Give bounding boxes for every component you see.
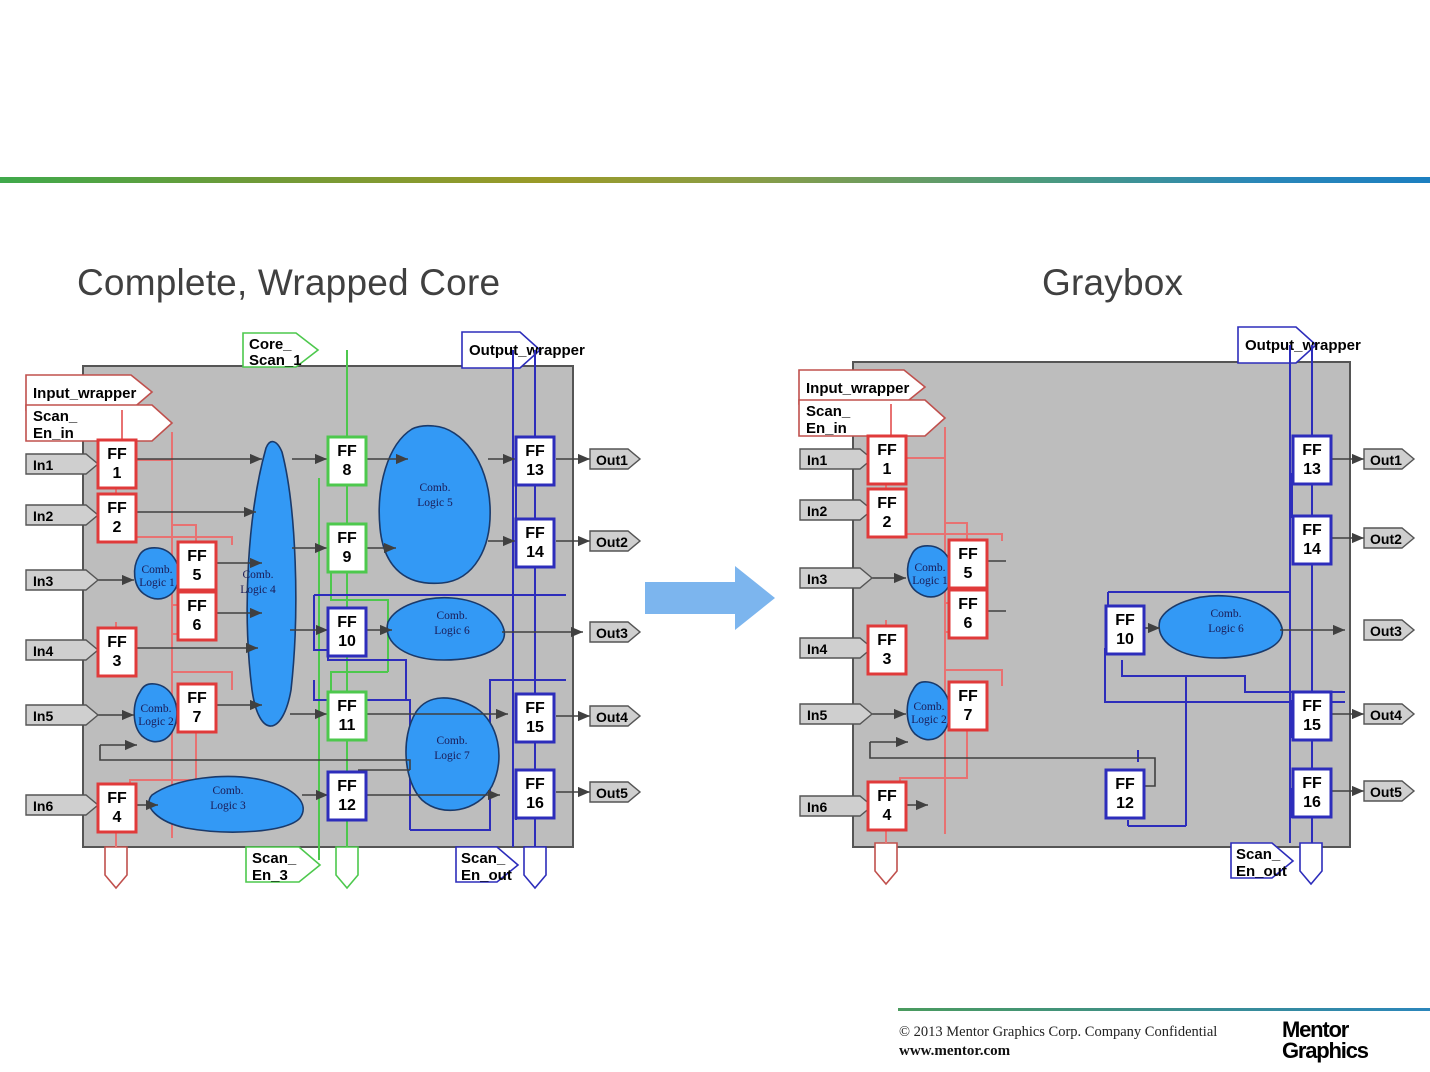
- svg-text:7: 7: [964, 707, 973, 724]
- port-in5-right: In5: [800, 704, 872, 724]
- svg-text:8: 8: [343, 462, 352, 479]
- ff-13-left: FF 13: [516, 437, 554, 485]
- flag-label-scan-en-out-a: Scan_: [461, 850, 506, 867]
- ff-6-left: FF 6: [178, 592, 216, 640]
- ports-out-right: Out1 Out2 Out3 Out4 Out5: [1364, 449, 1414, 801]
- blob-label-cl2a: Comb.: [141, 703, 172, 715]
- svg-text:15: 15: [526, 719, 544, 736]
- ff-3-left: FF 3: [98, 628, 136, 676]
- flag-label-input-wrapper: Input_wrapper: [33, 385, 137, 402]
- ff-2-right: FF 2: [868, 489, 906, 537]
- svg-text:FF: FF: [958, 688, 978, 705]
- ff-5-left: FF 5: [178, 542, 216, 590]
- flag-label-scan-en-in-r1: Scan_: [806, 403, 851, 420]
- svg-text:FF: FF: [187, 598, 207, 615]
- flag-label-scan-en-in-1: Scan_: [33, 408, 78, 425]
- svg-text:1: 1: [883, 461, 892, 478]
- flag-scan-en-in-left: Scan_ En_in: [26, 405, 172, 442]
- blob-label-r-cl2a: Comb.: [914, 701, 945, 713]
- port-label-in4-r: In4: [807, 641, 827, 657]
- ff-7-left: FF 7: [178, 684, 216, 732]
- port-in1-right: In1: [800, 449, 872, 469]
- ff-5-right: FF 5: [949, 540, 987, 588]
- flag-core-scan-1: Core_ Scan_1: [243, 333, 318, 369]
- blob-comb-logic-3: Comb. Logic 3: [149, 776, 303, 832]
- pennant-blue-right: [1300, 843, 1322, 884]
- ff-14-right: FF 14: [1293, 516, 1331, 564]
- blob-label-r-cl1b: Logic 1: [912, 575, 948, 587]
- svg-text:12: 12: [1116, 795, 1134, 812]
- svg-text:FF: FF: [525, 525, 545, 542]
- ff-7-right: FF 7: [949, 682, 987, 730]
- svg-text:2: 2: [883, 514, 892, 531]
- footer-divider-rule: [898, 1008, 1430, 1011]
- blob-label-cl3a: Comb.: [213, 785, 244, 797]
- port-in3-right: In3: [800, 568, 872, 588]
- port-out2-left: Out2: [590, 531, 640, 551]
- blob-label-cl1a: Comb.: [142, 564, 173, 576]
- flag-scan-en-3: Scan_ En_3: [246, 847, 320, 884]
- ff-9-left: FF 9: [328, 524, 366, 572]
- svg-text:4: 4: [113, 809, 122, 826]
- ff-6-right: FF 6: [949, 590, 987, 638]
- port-label-out2-r: Out2: [1370, 531, 1402, 547]
- svg-text:FF: FF: [1302, 442, 1322, 459]
- blob-label-cl3b: Logic 3: [210, 800, 246, 812]
- port-label-out2: Out2: [596, 534, 628, 550]
- port-label-out3-r: Out3: [1370, 623, 1402, 639]
- port-label-in4: In4: [33, 643, 53, 659]
- pennant-red-right: [875, 843, 897, 884]
- port-out2-right: Out2: [1364, 528, 1414, 548]
- ff-16-right: FF 16: [1293, 769, 1331, 817]
- svg-text:4: 4: [883, 807, 892, 824]
- port-in6-right: In6: [800, 796, 872, 816]
- flag-scan-en-in-right: Scan_ En_in: [799, 400, 945, 437]
- blob-label-r-cl6a: Comb.: [1211, 608, 1242, 620]
- svg-text:10: 10: [338, 633, 356, 650]
- port-in3-left: In3: [26, 570, 98, 590]
- copyright-text: © 2013 Mentor Graphics Corp. Company Con…: [899, 1024, 1217, 1041]
- svg-text:2: 2: [113, 519, 122, 536]
- blob-comb-logic-1-right: Comb. Logic 1: [908, 546, 952, 597]
- port-in5-left: In5: [26, 705, 98, 725]
- blob-label-cl4b: Logic 4: [240, 584, 276, 596]
- svg-text:FF: FF: [1115, 612, 1135, 629]
- svg-text:16: 16: [526, 795, 544, 812]
- port-in4-left: In4: [26, 640, 98, 660]
- ff-12-right: FF 12: [1106, 770, 1144, 818]
- svg-text:14: 14: [1303, 541, 1321, 558]
- svg-text:10: 10: [1116, 631, 1134, 648]
- svg-text:14: 14: [526, 544, 544, 561]
- diagram-canvas: Input_wrapper Scan_ En_in Core_ Scan_1 O…: [0, 0, 1430, 1072]
- blob-label-r-cl1a: Comb.: [915, 562, 946, 574]
- pennant-red-left: [105, 847, 127, 888]
- svg-text:6: 6: [193, 617, 202, 634]
- logo-line-2: Graphics: [1282, 1040, 1412, 1061]
- svg-text:FF: FF: [337, 443, 357, 460]
- svg-text:5: 5: [964, 565, 973, 582]
- svg-text:FF: FF: [525, 443, 545, 460]
- port-label-out1: Out1: [596, 452, 628, 468]
- ff-11-left: FF 11: [328, 692, 366, 740]
- ff-14-left: FF 14: [516, 519, 554, 567]
- flag-output-wrapper-right: Output_wrapper: [1238, 327, 1361, 363]
- port-label-in3-r: In3: [807, 571, 827, 587]
- svg-text:5: 5: [193, 567, 202, 584]
- port-label-in6: In6: [33, 798, 53, 814]
- port-label-in2: In2: [33, 508, 53, 524]
- port-out5-left: Out5: [590, 782, 640, 802]
- blob-comb-logic-7: Comb. Logic 7: [406, 698, 499, 810]
- svg-text:FF: FF: [337, 530, 357, 547]
- svg-text:FF: FF: [1302, 775, 1322, 792]
- ff-15-left: FF 15: [516, 694, 554, 742]
- blob-comb-logic-1: Comb. Logic 1: [135, 548, 179, 599]
- flag-label-scan-en-out-r1: Scan_: [1236, 846, 1281, 863]
- ff-4-left: FF 4: [98, 784, 136, 832]
- blob-comb-logic-2: Comb. Logic 2: [134, 684, 177, 742]
- flag-label-output-wrapper: Output_wrapper: [469, 342, 585, 359]
- blob-label-r-cl6b: Logic 6: [1208, 623, 1244, 635]
- svg-text:FF: FF: [958, 546, 978, 563]
- svg-text:FF: FF: [337, 614, 357, 631]
- port-label-in5: In5: [33, 708, 53, 724]
- svg-text:FF: FF: [877, 632, 897, 649]
- svg-text:3: 3: [113, 653, 122, 670]
- port-label-out5: Out5: [596, 785, 628, 801]
- port-label-out3: Out3: [596, 625, 628, 641]
- svg-text:FF: FF: [107, 500, 127, 517]
- svg-text:FF: FF: [525, 776, 545, 793]
- port-label-in6-r: In6: [807, 799, 827, 815]
- svg-text:FF: FF: [1302, 698, 1322, 715]
- svg-text:FF: FF: [877, 788, 897, 805]
- port-in6-left: In6: [26, 795, 98, 815]
- ff-10-left: FF 10: [328, 608, 366, 656]
- ff-16-left: FF 16: [516, 770, 554, 818]
- port-label-in2-r: In2: [807, 503, 827, 519]
- flag-scan-en-out-right: Scan_ En_out: [1231, 843, 1293, 880]
- ff-12-left: FF 12: [328, 772, 366, 820]
- port-out1-right: Out1: [1364, 449, 1414, 469]
- port-out4-left: Out4: [590, 706, 640, 726]
- port-label-in3: In3: [33, 573, 53, 589]
- blob-label-cl7a: Comb.: [437, 735, 468, 747]
- svg-text:1: 1: [113, 465, 122, 482]
- svg-text:FF: FF: [877, 442, 897, 459]
- ff-13-right: FF 13: [1293, 436, 1331, 484]
- blob-label-cl6b: Logic 6: [434, 625, 470, 637]
- port-out3-right: Out3: [1364, 620, 1414, 640]
- transform-arrow: [645, 566, 775, 630]
- port-label-in1: In1: [33, 457, 53, 473]
- flag-input-wrapper-right: Input_wrapper: [799, 370, 925, 404]
- flag-label-scan-en-out-r2: En_out: [1236, 863, 1287, 880]
- svg-text:9: 9: [343, 549, 352, 566]
- ff-1-left: FF 1: [98, 440, 136, 488]
- flag-label-output-wrapper-r: Output_wrapper: [1245, 337, 1361, 354]
- flag-label-scan-en-in-2: En_in: [33, 425, 74, 442]
- svg-text:FF: FF: [1115, 776, 1135, 793]
- port-out4-right: Out4: [1364, 704, 1414, 724]
- ff-2-left: FF 2: [98, 494, 136, 542]
- flag-label-scan-en-out-b: En_out: [461, 867, 512, 884]
- blob-label-cl2b: Logic 2: [138, 716, 174, 728]
- svg-text:FF: FF: [525, 700, 545, 717]
- svg-text:FF: FF: [187, 548, 207, 565]
- port-in2-left: In2: [26, 505, 98, 525]
- svg-text:13: 13: [1303, 461, 1321, 478]
- port-label-out1-r: Out1: [1370, 452, 1402, 468]
- diagram-graybox: Input_wrapper Scan_ En_in Output_wrapper…: [799, 327, 1414, 884]
- flag-label-scan-en-3b: En_3: [252, 867, 288, 884]
- port-label-in5-r: In5: [807, 707, 827, 723]
- svg-text:15: 15: [1303, 717, 1321, 734]
- svg-text:FF: FF: [107, 790, 127, 807]
- ff-8-left: FF 8: [328, 437, 366, 485]
- blob-label-cl5a: Comb.: [420, 482, 451, 494]
- svg-text:3: 3: [883, 651, 892, 668]
- flag-label-scan-en-in-r2: En_in: [806, 420, 847, 437]
- mentor-graphics-logo: Mentor Graphics: [1282, 1019, 1412, 1065]
- logo-line-1: Mentor: [1282, 1019, 1412, 1040]
- svg-text:FF: FF: [337, 698, 357, 715]
- flag-label-core-scan-1a: Core_: [249, 336, 292, 353]
- flag-label-core-scan-1b: Scan_1: [249, 352, 302, 369]
- svg-text:12: 12: [338, 797, 356, 814]
- blob-label-cl6a: Comb.: [437, 610, 468, 622]
- port-out5-right: Out5: [1364, 781, 1414, 801]
- flag-scan-en-out-left: Scan_ En_out: [456, 847, 518, 884]
- blob-comb-logic-2-right: Comb. Logic 2: [907, 682, 950, 740]
- svg-text:11: 11: [339, 717, 356, 734]
- ports-out-left: Out1 Out2 Out3 Out4 Out5: [590, 449, 640, 802]
- pennant-green-left: [336, 847, 358, 888]
- diagram-complete-wrapped-core: Input_wrapper Scan_ En_in Core_ Scan_1 O…: [26, 332, 640, 888]
- ff-15-right: FF 15: [1293, 692, 1331, 740]
- flag-label-input-wrapper-r: Input_wrapper: [806, 380, 910, 397]
- blob-label-cl7b: Logic 7: [434, 750, 470, 762]
- blob-label-r-cl2b: Logic 2: [911, 714, 947, 726]
- flag-output-wrapper-left: Output_wrapper: [462, 332, 585, 368]
- port-label-out4: Out4: [596, 709, 628, 725]
- port-in2-right: In2: [800, 500, 872, 520]
- svg-text:FF: FF: [187, 690, 207, 707]
- svg-text:FF: FF: [107, 634, 127, 651]
- flag-label-scan-en-3a: Scan_: [252, 850, 297, 867]
- svg-text:FF: FF: [877, 495, 897, 512]
- svg-text:FF: FF: [1302, 522, 1322, 539]
- blob-label-cl5b: Logic 5: [417, 497, 453, 509]
- blob-label-cl1b: Logic 1: [139, 577, 175, 589]
- svg-text:7: 7: [193, 709, 202, 726]
- website-url: www.mentor.com: [899, 1043, 1010, 1060]
- ff-1-right: FF 1: [868, 436, 906, 484]
- ff-3-right: FF 3: [868, 626, 906, 674]
- svg-text:FF: FF: [958, 596, 978, 613]
- blob-label-cl4a: Comb.: [243, 569, 274, 581]
- svg-text:6: 6: [964, 615, 973, 632]
- port-out1-left: Out1: [590, 449, 640, 469]
- ff-10-right: FF 10: [1106, 606, 1144, 654]
- svg-text:FF: FF: [337, 778, 357, 795]
- port-in1-left: In1: [26, 454, 98, 474]
- svg-text:13: 13: [526, 462, 544, 479]
- port-in4-right: In4: [800, 638, 872, 658]
- port-label-out4-r: Out4: [1370, 707, 1402, 723]
- port-label-out5-r: Out5: [1370, 784, 1402, 800]
- ff-4-right: FF 4: [868, 782, 906, 830]
- svg-text:16: 16: [1303, 794, 1321, 811]
- port-label-in1-r: In1: [807, 452, 827, 468]
- pennant-blue-left: [524, 847, 546, 888]
- svg-text:FF: FF: [107, 446, 127, 463]
- port-out3-left: Out3: [590, 622, 640, 642]
